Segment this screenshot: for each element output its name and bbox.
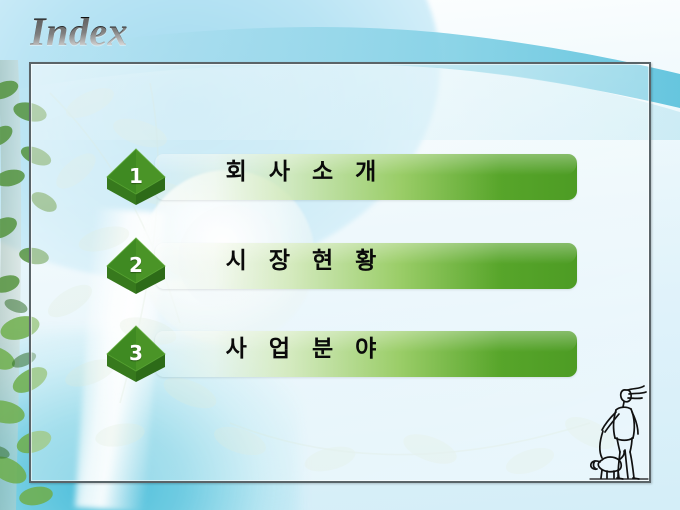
page-title: Index: [30, 12, 128, 52]
index-row-3[interactable]: 사 업 분 야 3: [103, 323, 577, 385]
index-row-2[interactable]: 시 장 현 황 2: [103, 235, 577, 297]
index-row-1[interactable]: 회 사 소 개 1: [103, 146, 577, 208]
slide-canvas: Index 회 사 소 개 1 시 장 현 황: [0, 0, 680, 510]
index-number-2: 2: [103, 235, 181, 297]
woman-walking-dog-sketch: [588, 378, 660, 482]
index-number-3: 3: [103, 323, 181, 385]
index-number-1: 1: [103, 146, 181, 208]
